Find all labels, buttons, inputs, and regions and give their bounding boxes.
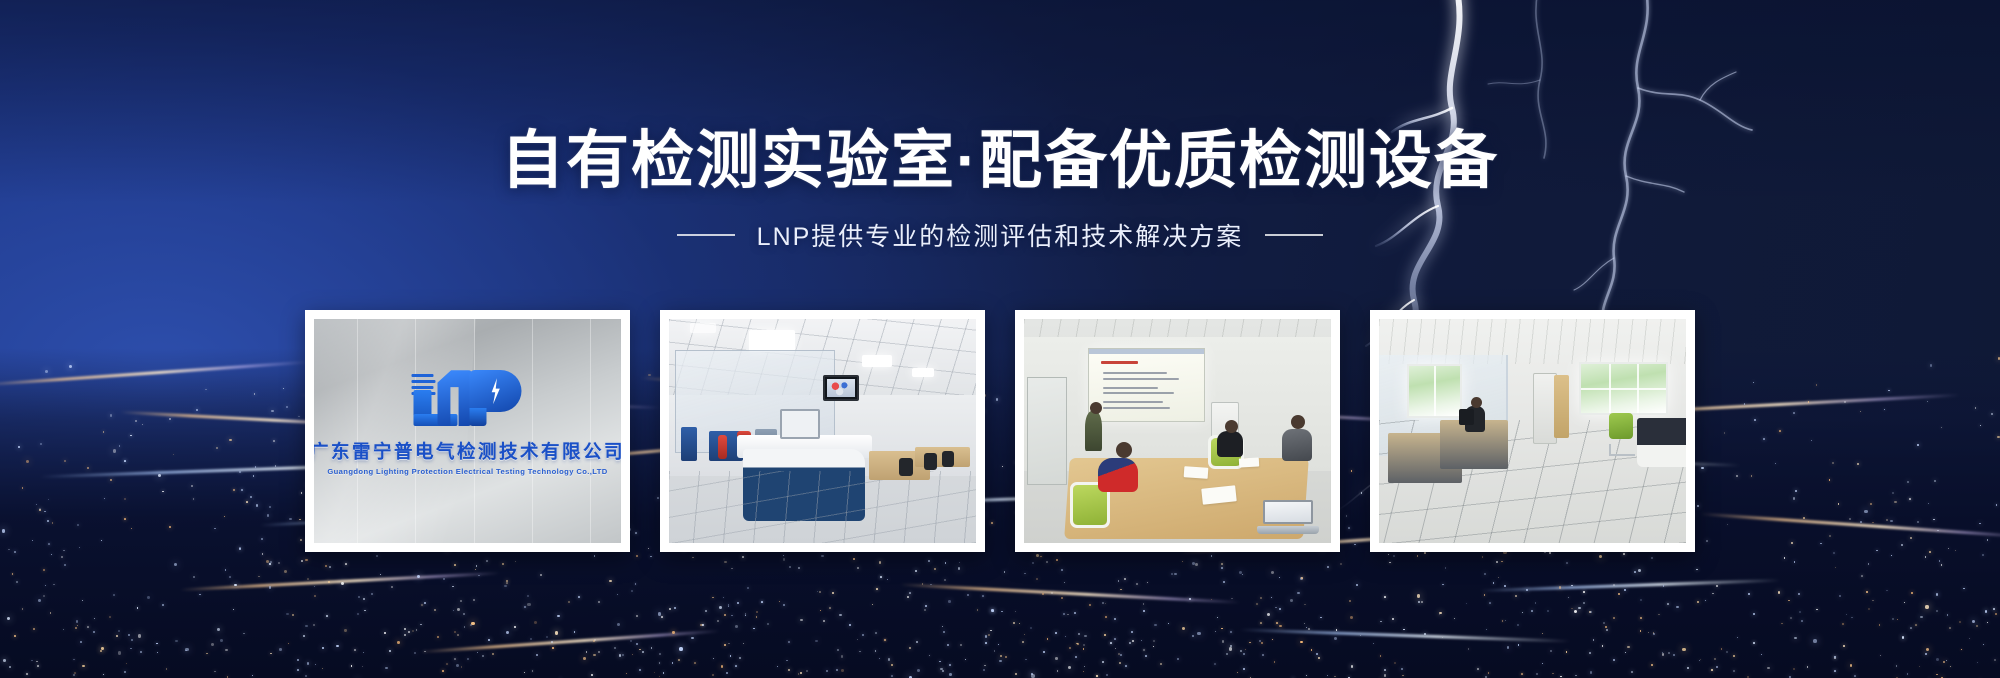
subtitle-row: LNP提供专业的检测评估和技术解决方案 (677, 217, 1324, 253)
person-presenter (1085, 411, 1102, 451)
projection-screen (1088, 348, 1205, 422)
dash-right-decoration (1265, 234, 1323, 236)
page-title: 自有检测实验室·配备优质检测设备 (501, 130, 1499, 193)
photo-gallery: 广东雷宁普电气检测技术有限公司 Guangdong Lighting Prote… (305, 310, 1695, 552)
signage-company-name-en: Guangdong Lighting Protection Electrical… (314, 467, 621, 476)
company-logo: 广东雷宁普电气检测技术有限公司 Guangdong Lighting Prote… (314, 368, 621, 476)
photo-signage-wall: 广东雷宁普电气检测技术有限公司 Guangdong Lighting Prote… (314, 319, 621, 543)
person-seated-right (1282, 429, 1312, 461)
photo-testing-laboratory (669, 319, 976, 543)
person-seated-front (1098, 458, 1138, 492)
office-window (1579, 362, 1668, 416)
gallery-card-laboratory[interactable] (660, 310, 985, 552)
gallery-card-office[interactable] (1370, 310, 1695, 552)
desk-monitor (1459, 409, 1474, 425)
dash-left-decoration (677, 234, 735, 236)
lnp-logo-icon (411, 368, 523, 426)
laptop (1257, 500, 1319, 534)
gallery-card-meeting-room[interactable] (1015, 310, 1340, 552)
photo-meeting-room (1024, 319, 1331, 543)
signage-company-name-cn: 广东雷宁普电气检测技术有限公司 (314, 438, 621, 464)
visitor-chair (1609, 413, 1633, 439)
person-seated-mid (1217, 431, 1243, 457)
room-door (1027, 377, 1067, 485)
hero-banner: 自有检测实验室·配备优质检测设备 LNP提供专业的检测评估和技术解决方案 (0, 0, 2000, 678)
wall-tv-screen (823, 375, 859, 401)
reception-counter (1637, 418, 1686, 467)
photo-office-area (1379, 319, 1686, 543)
gallery-card-signage[interactable]: 广东雷宁普电气检测技术有限公司 Guangdong Lighting Prote… (305, 310, 630, 552)
console-monitor (780, 409, 820, 439)
page-subtitle: LNP提供专业的检测评估和技术解决方案 (757, 217, 1244, 253)
